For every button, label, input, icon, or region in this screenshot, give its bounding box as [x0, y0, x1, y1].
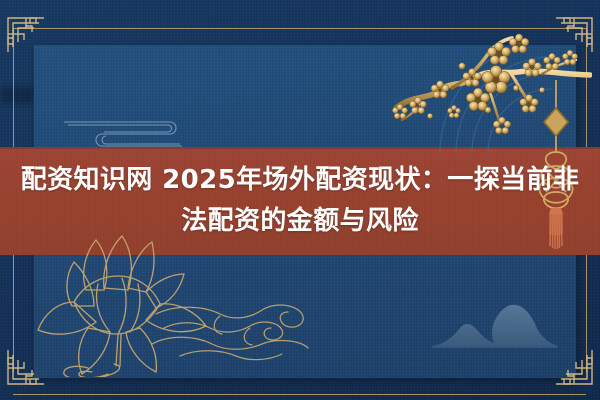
- title-line-1: 配资知识网 2025年场外配资现状：一探当前非: [21, 160, 580, 201]
- poster-canvas: 配资知识网 2025年场外配资现状：一探当前非 法配资的金额与风险: [0, 0, 600, 400]
- meander-corner-ornament-bottom-right: [554, 348, 594, 388]
- title-line-2: 法配资的金额与风险: [181, 201, 419, 242]
- mountain-silhouette-icon: [430, 300, 560, 350]
- poster-title: 配资知识网 2025年场外配资现状：一探当前非 法配资的金额与风险: [0, 147, 600, 255]
- meander-corner-ornament-top-left: [6, 14, 46, 54]
- background-shadow-band: [0, 86, 34, 104]
- frame-line-bottom: [13, 394, 586, 395]
